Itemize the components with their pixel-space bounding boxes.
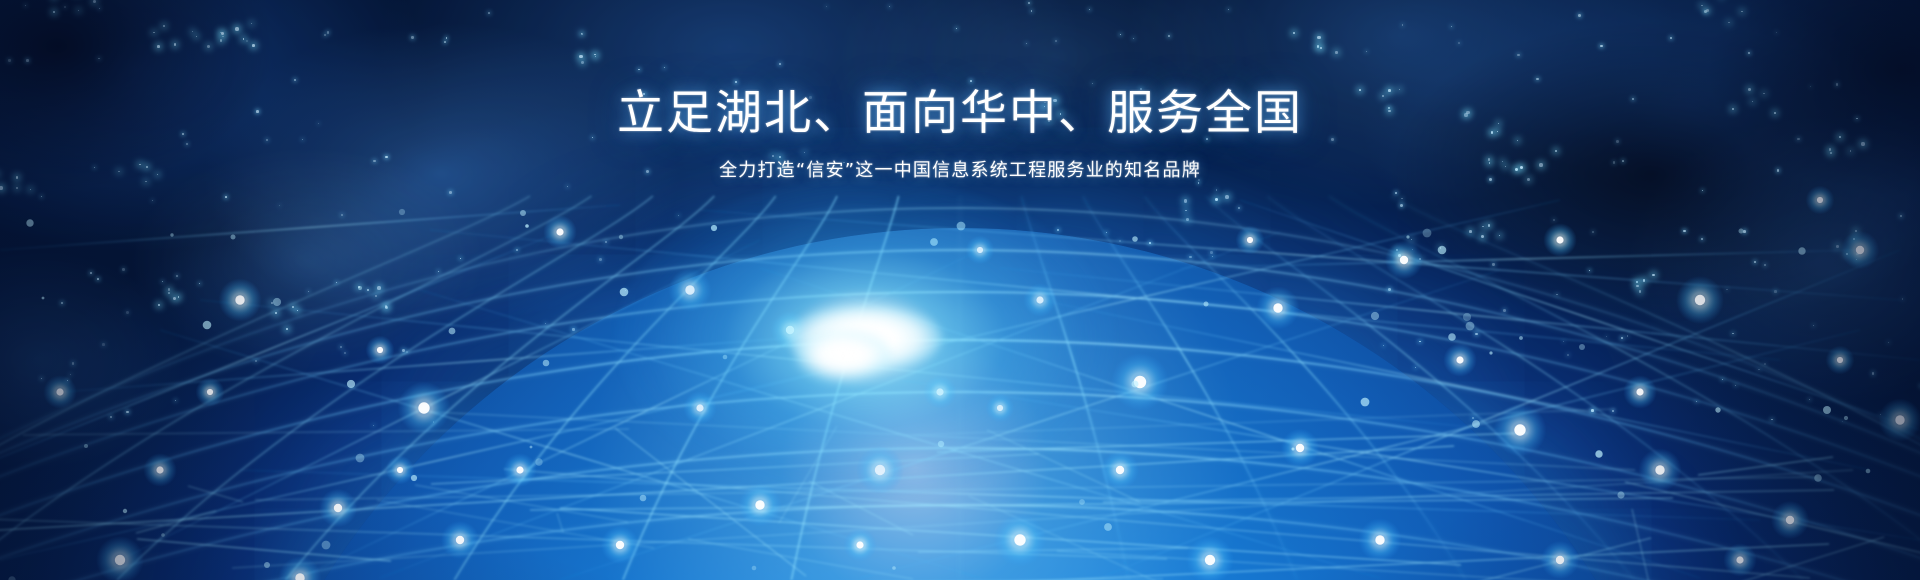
banner-headline: 立足湖北、面向华中、服务全国 (0, 86, 1920, 142)
hero-banner: 立足湖北、面向华中、服务全国 全力打造“信安”这一中国信息系统工程服务业的知名品… (0, 0, 1920, 580)
banner-subline: 全力打造“信安”这一中国信息系统工程服务业的知名品牌 (0, 158, 1920, 184)
light-burst-secondary (795, 330, 891, 382)
banner-text-block: 立足湖北、面向华中、服务全国 全力打造“信安”这一中国信息系统工程服务业的知名品… (0, 0, 1920, 184)
